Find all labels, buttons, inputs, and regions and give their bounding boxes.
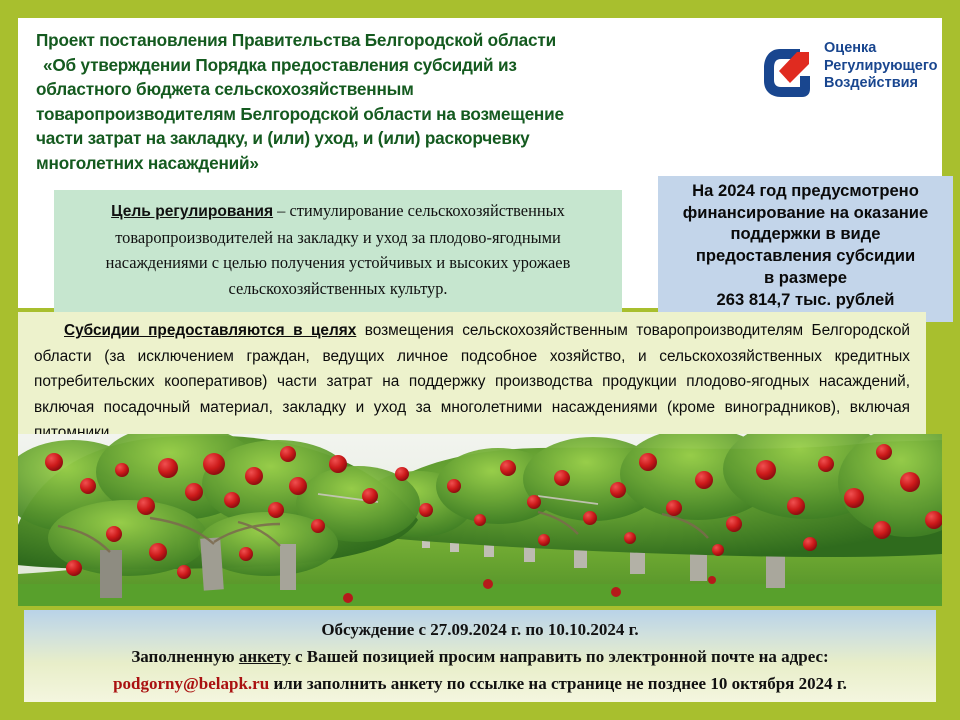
title-line-2: «Об утверждении Порядка предоставления с… <box>36 53 726 78</box>
orv-logo-line-1: Оценка <box>824 40 938 58</box>
finance-line-4: предоставления субсидии <box>664 245 947 267</box>
goal-text: Цель регулирования – стимулирование сель… <box>68 198 608 301</box>
orv-logo-line-3: Воздействия <box>824 75 938 93</box>
finance-line-5: в размере <box>664 267 947 289</box>
orchard-photo <box>18 434 942 606</box>
finance-amount: 263 814,7 тыс. рублей <box>664 289 947 311</box>
footer-line2-b: с Вашей позицией просим направить по эле… <box>291 647 829 666</box>
footer-instruction-line: Заполненную анкету с Вашей позицией прос… <box>34 643 926 670</box>
title-line-4: товаропроизводителям Белгородской област… <box>36 102 726 127</box>
title-line-5: части затрат на закладку, и (или) уход, … <box>36 126 726 151</box>
orv-logo: Оценка Регулирующего Воздействия <box>760 40 950 110</box>
slide-root: Проект постановления Правительства Белго… <box>0 0 960 720</box>
footer-email-line: podgorny@belapk.ru или заполнить анкету … <box>34 670 926 697</box>
title-line-6: многолетних насаждений» <box>36 151 726 176</box>
finance-line-1: На 2024 год предусмотрено <box>664 180 947 202</box>
goal-box: Цель регулирования – стимулирование сель… <box>54 190 622 322</box>
orv-logo-line-2: Регулирующего <box>824 58 938 76</box>
footer-discussion-period: Обсуждение с 27.09.2024 г. по 10.10.2024… <box>34 616 926 643</box>
subsidy-paragraph-body: возмещения сельскохозяйственным товаропр… <box>34 322 910 441</box>
footer-line2-a: Заполненную <box>131 647 239 666</box>
orv-logo-text: Оценка Регулирующего Воздействия <box>824 40 938 93</box>
orv-logo-mark-icon <box>760 43 818 101</box>
finance-text: На 2024 год предусмотрено финансирование… <box>664 180 947 310</box>
footer-questionnaire-link[interactable]: анкету <box>239 647 291 666</box>
subsidy-paragraph-heading: Субсидии предоставляются в целях <box>64 322 356 339</box>
footer-box: Обсуждение с 27.09.2024 г. по 10.10.2024… <box>24 610 936 702</box>
page-title: Проект постановления Правительства Белго… <box>36 28 726 175</box>
goal-heading: Цель регулирования <box>111 203 273 220</box>
title-line-1: Проект постановления Правительства Белго… <box>36 28 726 53</box>
header-panel: Проект постановления Правительства Белго… <box>18 18 942 308</box>
footer-text: Обсуждение с 27.09.2024 г. по 10.10.2024… <box>34 616 926 697</box>
footer-line3-b: или заполнить анкету по ссылке на страни… <box>269 674 847 693</box>
footer-email-link[interactable]: podgorny@belapk.ru <box>113 674 269 693</box>
finance-line-3: поддержки в виде <box>664 223 947 245</box>
title-line-3: областного бюджета сельскохозяйственным <box>36 77 726 102</box>
subsidy-paragraph-text: Субсидии предоставляются в целях возмеще… <box>34 318 910 446</box>
subsidy-paragraph-box: Субсидии предоставляются в целях возмеще… <box>18 312 926 434</box>
finance-box: На 2024 год предусмотрено финансирование… <box>658 176 953 322</box>
finance-line-2: финансирование на оказание <box>664 202 947 224</box>
